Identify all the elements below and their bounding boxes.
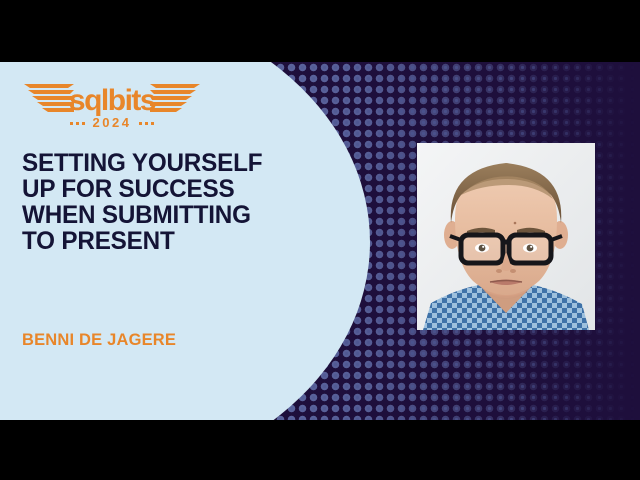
letterbox-bar-top [0,0,640,62]
slide-title: SETTING YOURSELF UP FOR SUCCESS WHEN SUB… [22,150,323,254]
title-line-1: SETTING YOURSELF [22,149,262,177]
presentation-slide: sqlbits 2024 SETTING YOURSELF UP FOR SU [0,62,640,420]
speaker-headshot [417,143,595,330]
speaker-headshot-image [417,143,595,330]
speaker-name: BENNI DE JAGERE [22,330,176,350]
sqlbits-logo: sqlbits 2024 [22,72,202,134]
title-line-3: WHEN SUBMITTING [22,201,251,229]
sqlbits-wings-logo-icon: sqlbits 2024 [22,72,202,134]
letterbox-bar-bottom [0,420,640,480]
sqlbits-year: 2024 [93,115,132,130]
title-line-2: UP FOR SUCCESS [22,175,234,203]
video-frame: sqlbits 2024 SETTING YOURSELF UP FOR SU [0,0,640,480]
title-line-4: TO PRESENT [22,227,175,255]
slide-content: sqlbits 2024 SETTING YOURSELF UP FOR SU [22,62,342,420]
sqlbits-wordmark: sqlbits [69,84,156,117]
